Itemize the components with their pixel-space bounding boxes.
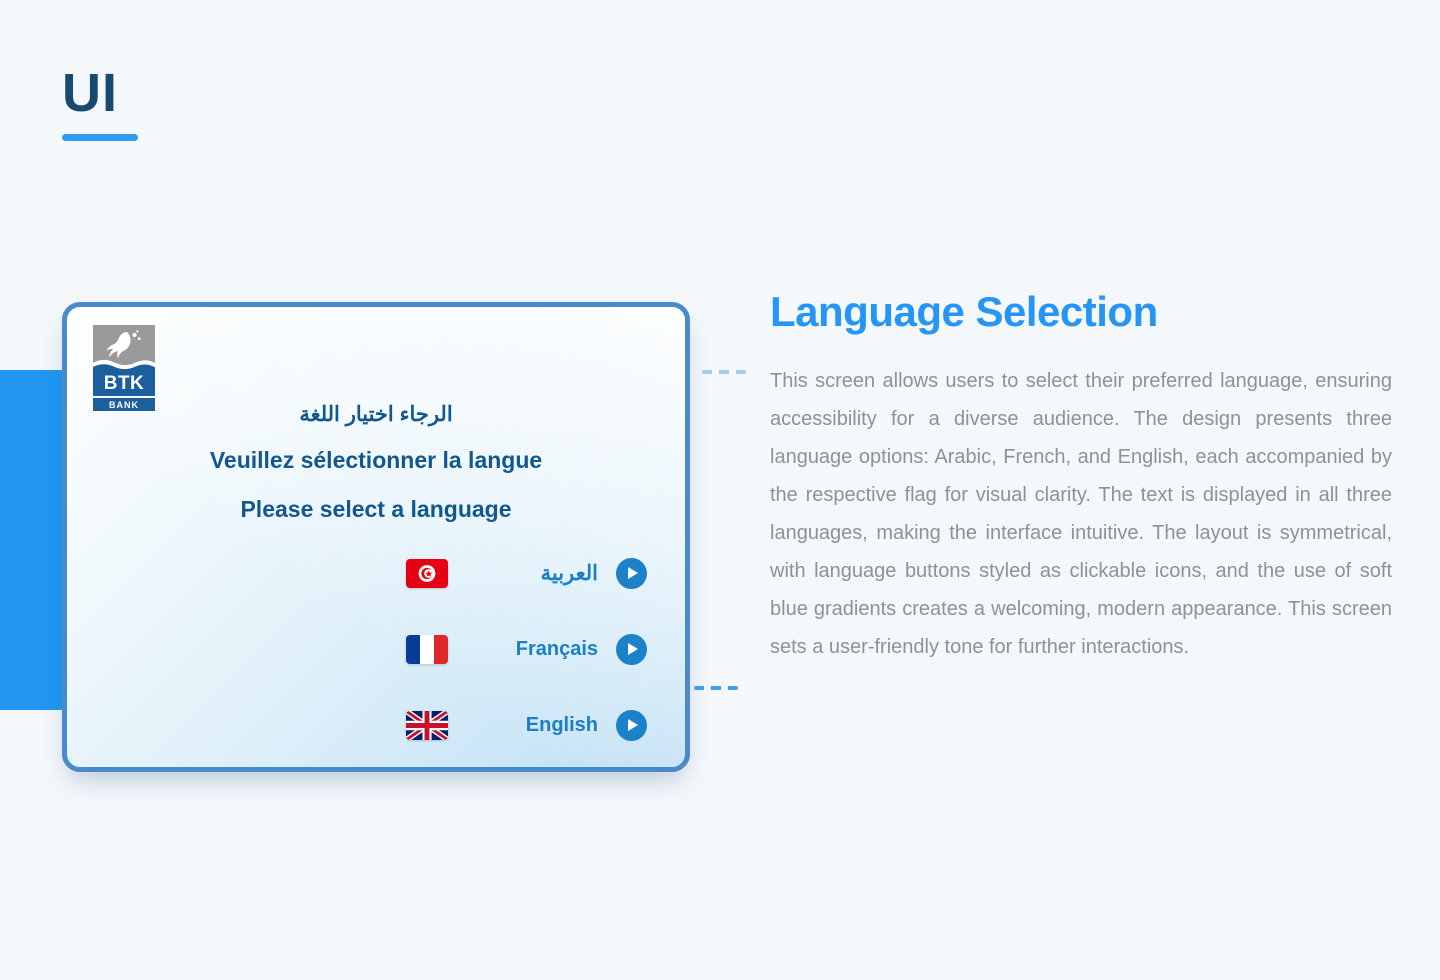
language-options-list: العربية Français: [67, 547, 685, 772]
ui-badge-underline: [62, 134, 138, 141]
description-panel: Language Selection This screen allows us…: [770, 288, 1392, 666]
language-option-english[interactable]: English: [67, 699, 685, 751]
screen-card: BTK BANK الرجاء اختيار اللغة Veuillez sé…: [62, 302, 690, 772]
language-selection-screen: BTK BANK الرجاء اختيار اللغة Veuillez sé…: [62, 302, 690, 772]
ui-badge: UI: [62, 66, 138, 141]
united-kingdom-flag-icon: [406, 711, 448, 740]
play-arrow-icon[interactable]: [616, 710, 647, 741]
btk-bank-logo: BTK BANK: [93, 325, 155, 411]
page-title: Language Selection: [770, 288, 1392, 336]
prompt-headings: الرجاء اختيار اللغة Veuillez sélectionne…: [67, 402, 685, 523]
language-label-english: English: [448, 714, 616, 737]
prompt-english: Please select a language: [67, 496, 685, 523]
prompt-french: Veuillez sélectionner la langue: [67, 447, 685, 474]
language-label-arabic: العربية: [448, 561, 616, 586]
connector-dash-top: [702, 370, 746, 374]
btk-bird-logo-icon: [93, 325, 155, 372]
language-option-french[interactable]: Français: [67, 623, 685, 675]
play-arrow-icon[interactable]: [616, 634, 647, 665]
logo-brand-text: BTK: [93, 372, 155, 396]
language-option-arabic[interactable]: العربية: [67, 547, 685, 599]
connector-dash-bottom: [694, 686, 738, 690]
france-flag-icon: [406, 635, 448, 664]
play-arrow-icon[interactable]: [616, 558, 647, 589]
language-label-french: Français: [448, 638, 616, 661]
tunisia-flag-icon: [406, 559, 448, 588]
description-text: This screen allows users to select their…: [770, 362, 1392, 666]
prompt-arabic: الرجاء اختيار اللغة: [67, 402, 685, 427]
ui-badge-label: UI: [62, 66, 138, 120]
